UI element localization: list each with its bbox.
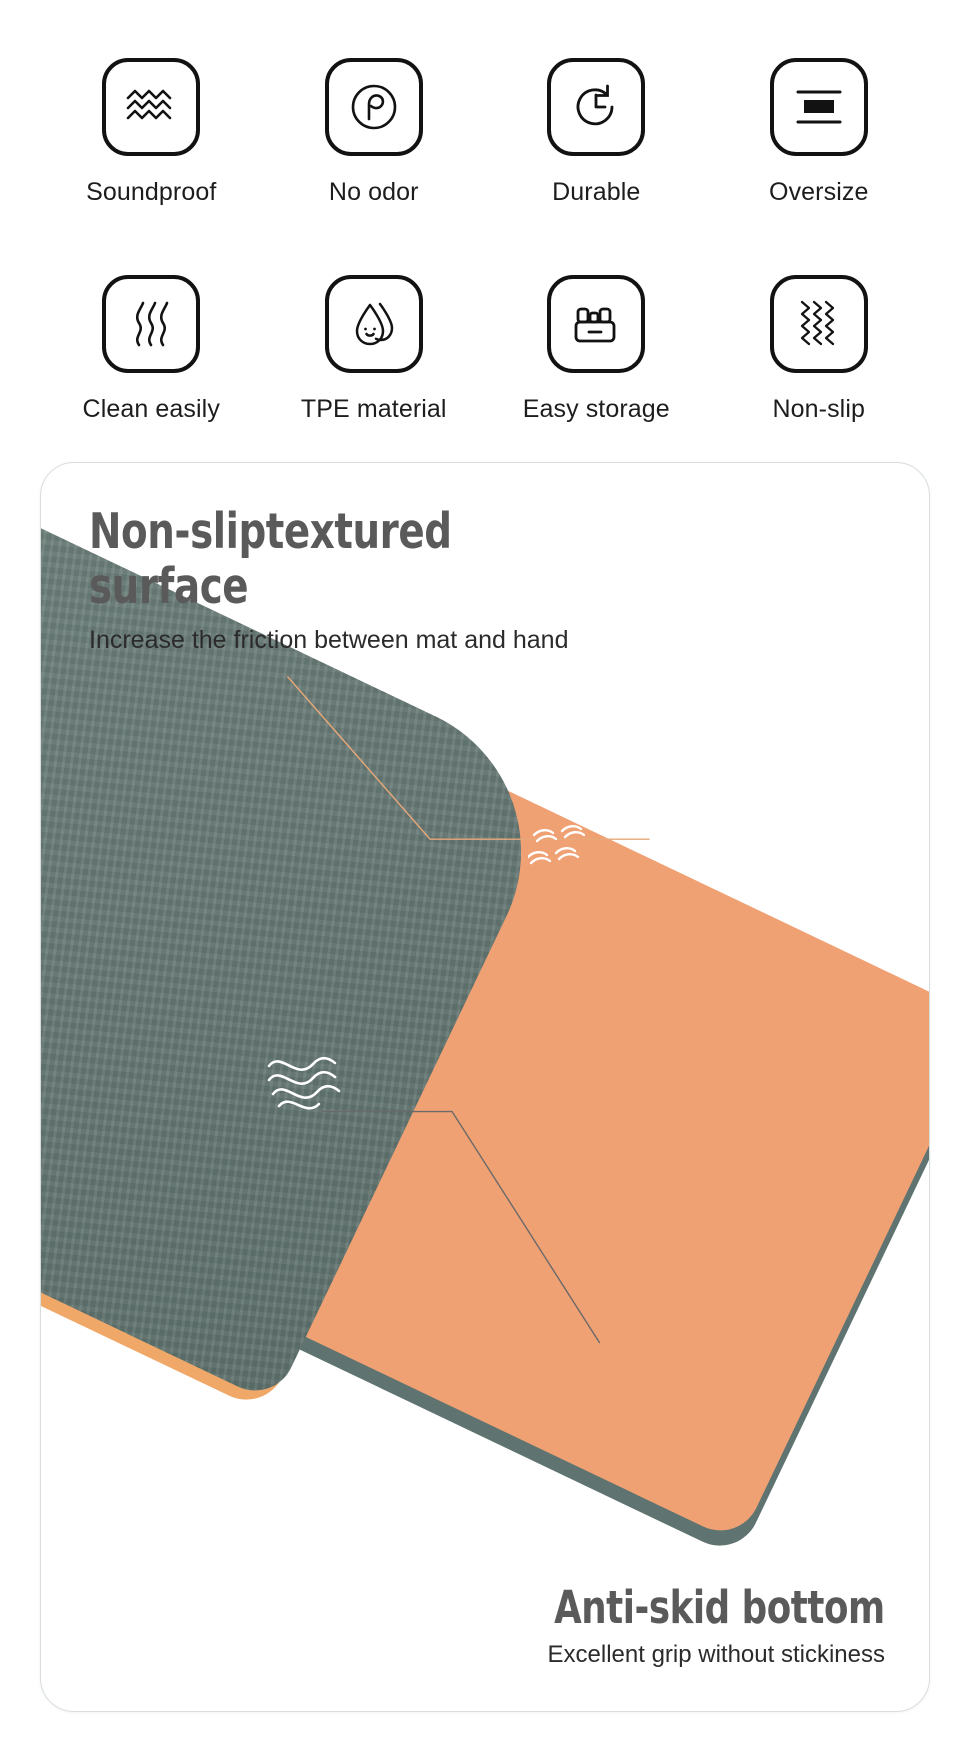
bottom-callout-headline: Anti-skid bottom [554, 1583, 885, 1633]
feature-item-oversize: Oversize [708, 58, 931, 207]
icon-box [547, 58, 645, 156]
feature-item-durable: Durable [485, 58, 708, 207]
top-callout-subline: Increase the friction between mat and ha… [89, 626, 519, 655]
icon-box [325, 275, 423, 373]
icon-box [770, 275, 868, 373]
feature-label: Non-slip [773, 395, 866, 424]
icon-box [102, 275, 200, 373]
size-bars-icon [793, 86, 845, 128]
icon-box [102, 58, 200, 156]
steam-lines-icon [129, 300, 173, 348]
wave-lines-icon [263, 1046, 349, 1127]
leaf-circle-icon [349, 82, 399, 132]
feature-label: Clean easily [83, 395, 220, 424]
icon-box [547, 275, 645, 373]
feature-label: Oversize [769, 178, 868, 207]
feature-item-soundproof: Soundproof [40, 58, 263, 207]
feature-label: TPE material [301, 395, 447, 424]
bottom-callout-subline: Excellent grip without stickiness [509, 1641, 885, 1669]
feature-item-tpe-material: TPE material [263, 275, 486, 424]
bottom-callout-text: Anti-skid bottom Excellent grip without … [509, 1583, 885, 1669]
feature-grid: Soundproof No odor Durable [0, 0, 970, 424]
feature-label: Durable [552, 178, 640, 207]
feature-item-easy-storage: Easy storage [485, 275, 708, 424]
icon-box [770, 58, 868, 156]
sound-wave-icon [125, 86, 177, 128]
storage-box-icon [571, 300, 621, 348]
zigzag-lines-icon [796, 299, 842, 349]
feature-item-no-odor: No odor [263, 58, 486, 207]
product-photo-card: Non-sliptextured surface Increase the fr… [40, 462, 930, 1712]
feature-item-clean-easily: Clean easily [40, 275, 263, 424]
feature-item-non-slip: Non-slip [708, 275, 931, 424]
icon-box [325, 58, 423, 156]
top-callout-text: Non-sliptextured surface Increase the fr… [89, 505, 519, 655]
footprints-icon [528, 813, 638, 888]
top-callout-headline-line2: surface [89, 560, 467, 615]
feature-label: Soundproof [86, 178, 216, 207]
clock-refresh-icon [571, 82, 621, 132]
feature-label: No odor [329, 178, 419, 207]
water-droplet-smile-icon [348, 298, 400, 350]
feature-label: Easy storage [523, 395, 670, 424]
top-callout-headline-line1: Non-sliptextured [89, 505, 467, 560]
